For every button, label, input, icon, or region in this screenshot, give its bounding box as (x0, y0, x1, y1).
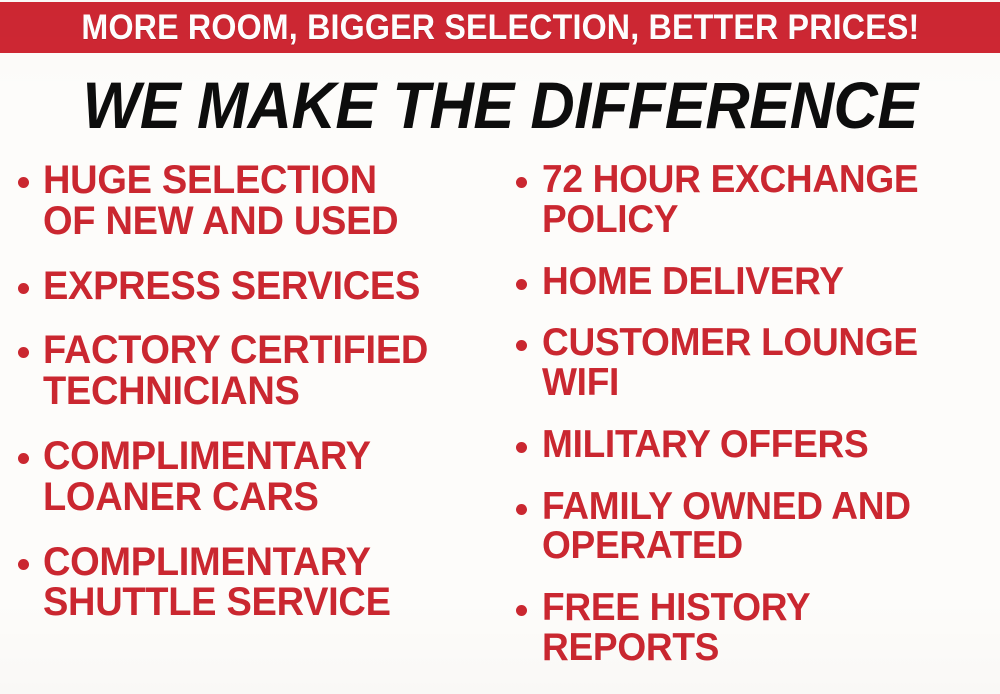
list-item-label: FREE HISTORY REPORTS (542, 588, 810, 668)
list-item-label: COMPLIMENTARY SHUTTLE SERVICE (43, 542, 391, 624)
list-item-label: CUSTOMER LOUNGE WIFI (542, 323, 918, 403)
list-item-label: EXPRESS SERVICES (43, 266, 420, 307)
list-item-label: FACTORY CERTIFIED TECHNICIANS (43, 330, 428, 412)
bullet-dot-icon (516, 504, 527, 515)
list-item: 72 HOUR EXCHANGE POLICY (516, 160, 988, 240)
bullet-dot-icon (18, 347, 29, 358)
promotional-poster: MORE ROOM, BIGGER SELECTION, BETTER PRIC… (0, 0, 1000, 694)
banner-headline-text: MORE ROOM, BIGGER SELECTION, BETTER PRIC… (81, 10, 919, 45)
list-item: EXPRESS SERVICES (18, 266, 490, 307)
bullet-dot-icon (516, 605, 527, 616)
bullet-dot-icon (516, 340, 527, 351)
list-item: HOME DELIVERY (516, 262, 988, 302)
bullet-dot-icon (516, 177, 527, 188)
benefits-column-right: 72 HOUR EXCHANGE POLICY HOME DELIVERY CU… (500, 160, 1000, 694)
list-item-label: HUGE SELECTION OF NEW AND USED (43, 160, 398, 242)
bullet-dot-icon (18, 283, 29, 294)
list-item: HUGE SELECTION OF NEW AND USED (18, 160, 490, 242)
list-item-label: HOME DELIVERY (542, 262, 844, 302)
bullet-dot-icon (516, 279, 527, 290)
main-headline-text: WE MAKE THE DIFFERENCE (82, 72, 917, 138)
list-item-label: 72 HOUR EXCHANGE POLICY (542, 160, 918, 240)
bullet-dot-icon (18, 453, 29, 464)
list-item: FACTORY CERTIFIED TECHNICIANS (18, 330, 490, 412)
bullet-dot-icon (516, 442, 527, 453)
list-item: FREE HISTORY REPORTS (516, 588, 988, 668)
list-item-label: FAMILY OWNED AND OPERATED (542, 487, 911, 567)
list-item-label: COMPLIMENTARY LOANER CARS (43, 436, 371, 518)
list-item: COMPLIMENTARY LOANER CARS (18, 436, 490, 518)
main-headline: WE MAKE THE DIFFERENCE (0, 72, 1000, 138)
benefits-columns: HUGE SELECTION OF NEW AND USED EXPRESS S… (0, 160, 1000, 694)
bullet-dot-icon (18, 559, 29, 570)
top-banner: MORE ROOM, BIGGER SELECTION, BETTER PRIC… (0, 2, 1000, 53)
list-item: FAMILY OWNED AND OPERATED (516, 487, 988, 567)
benefits-column-left: HUGE SELECTION OF NEW AND USED EXPRESS S… (0, 160, 500, 694)
list-item: COMPLIMENTARY SHUTTLE SERVICE (18, 542, 490, 624)
list-item: CUSTOMER LOUNGE WIFI (516, 323, 988, 403)
bullet-dot-icon (18, 177, 29, 188)
list-item: MILITARY OFFERS (516, 425, 988, 465)
list-item-label: MILITARY OFFERS (542, 425, 868, 465)
